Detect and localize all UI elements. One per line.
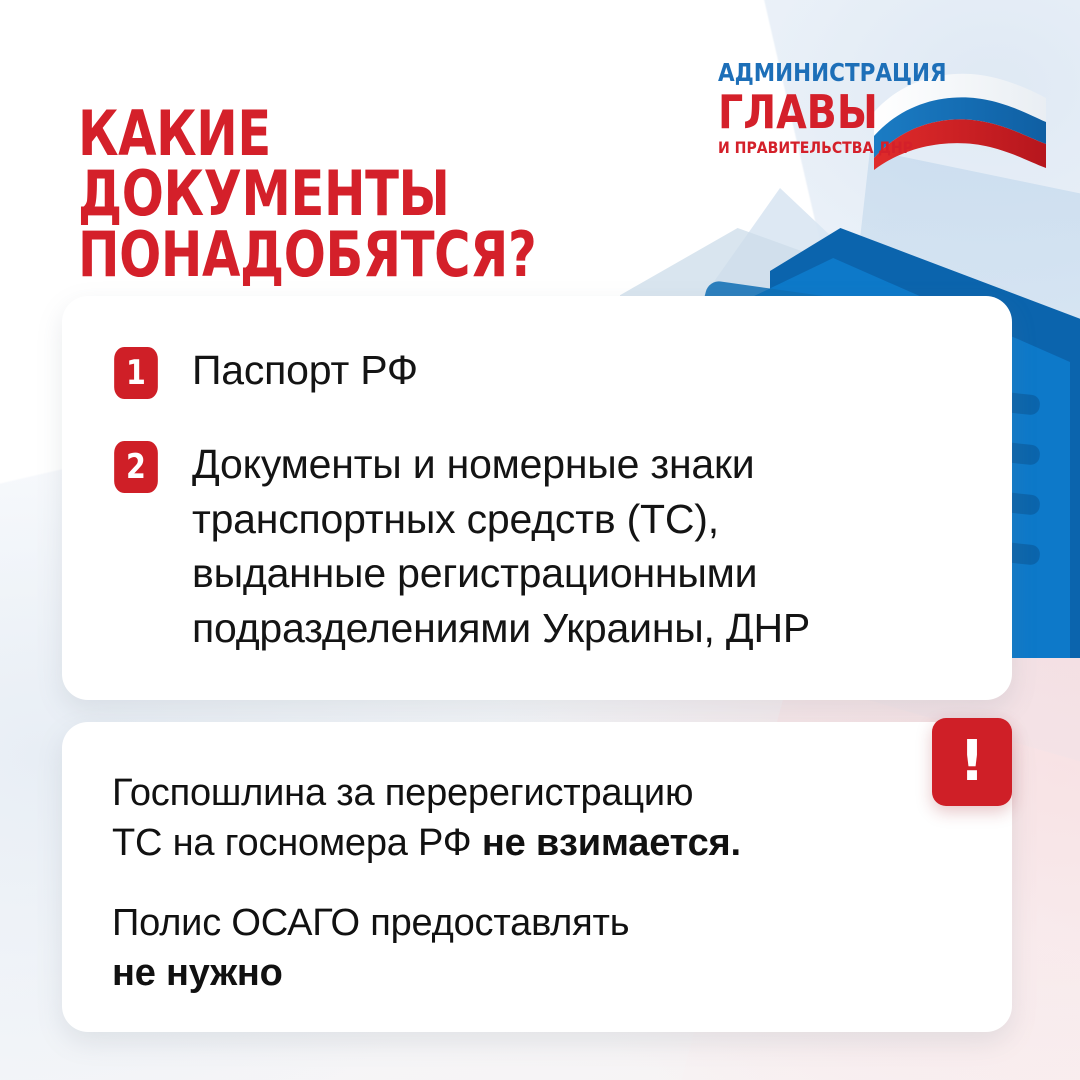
list-item-label: Паспорт РФ (192, 343, 418, 398)
note-osago-plain: Полис ОСАГО предоставлять (112, 902, 629, 944)
logo-line-head: ГЛАВЫ (718, 89, 947, 135)
note-card: Госпошлина за перерегистрацию ТС на госн… (62, 722, 1012, 1032)
page-title-line-2: ПОНАДОБЯТСЯ? (78, 225, 590, 286)
note-fee-strong: не взимается. (482, 822, 741, 864)
note-text: Госпошлина за перерегистрацию ТС на госн… (112, 768, 952, 999)
logo-line-administration: АДМИНИСТРАЦИЯ (718, 58, 947, 87)
list-item-number-badge: 2 (114, 441, 158, 493)
infographic-poster: КАКИЕ ДОКУМЕНТЫ ПОНАДОБЯТСЯ? АДМИНИСТРАЦ… (0, 0, 1080, 1080)
page-title-line-1: КАКИЕ ДОКУМЕНТЫ (78, 97, 450, 231)
page-title: КАКИЕ ДОКУМЕНТЫ ПОНАДОБЯТСЯ? (78, 104, 590, 286)
list-item: 2 Документы и номерные знаки транспортны… (110, 437, 810, 655)
list-item-number-badge: 1 (114, 347, 158, 399)
organization-logo: АДМИНИСТРАЦИЯ ГЛАВЫ И ПРАВИТЕЛЬСТВА ДНР (718, 58, 1048, 176)
list-item-label: Документы и номерные знаки транспортных … (192, 437, 810, 655)
exclamation-icon: ! (932, 718, 1012, 806)
logo-line-government: И ПРАВИТЕЛЬСТВА ДНР (718, 138, 952, 157)
exclamation-mark: ! (932, 718, 1012, 806)
documents-card: 1 Паспорт РФ 2 Документы и номерные знак… (62, 296, 1012, 700)
note-paragraph-osago: Полис ОСАГО предоставлять не нужно (112, 898, 952, 998)
list-item: 1 Паспорт РФ (110, 343, 418, 399)
note-paragraph-fee: Госпошлина за перерегистрацию ТС на госн… (112, 768, 952, 868)
note-osago-strong: не нужно (112, 952, 283, 994)
